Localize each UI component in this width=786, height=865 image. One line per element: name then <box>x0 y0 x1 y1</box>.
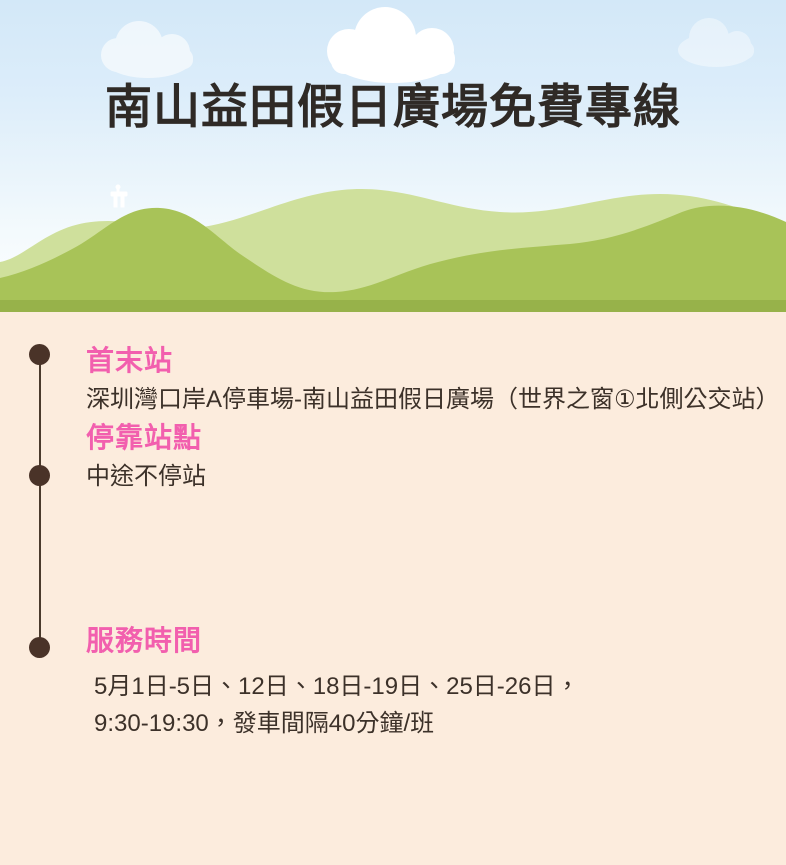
service-hours-line-1: 5月1日-5日、12日、18日-19日、25日-26日， <box>94 668 776 705</box>
cloud-right-icon <box>678 18 754 67</box>
section-title-terminal-stations: 首末站 <box>86 342 776 380</box>
cloud-center-icon <box>327 7 455 83</box>
timeline-rail-group <box>38 354 42 648</box>
page-title: 南山益田假日廣場免費專線 <box>0 78 786 136</box>
section-body-service-hours: 5月1日-5日、12日、18日-19日、25日-26日， 9:30-19:30，… <box>86 668 776 742</box>
timeline-line <box>39 354 41 648</box>
poster-root: 南山益田假日廣場免費專線 首末站 深圳灣口岸A停車場-南山益田假日廣場（世界之窗… <box>0 0 786 865</box>
hero-banner: 南山益田假日廣場免費專線 <box>0 0 786 312</box>
cloud-left-icon <box>101 21 193 78</box>
section-title-service-hours: 服務時間 <box>86 622 776 660</box>
section-service-hours: 服務時間 5月1日-5日、12日、18日-19日、25日-26日， 9:30-1… <box>86 622 776 742</box>
hero-illustration <box>0 0 786 312</box>
section-terminal-stations: 首末站 深圳灣口岸A停車場-南山益田假日廣場（世界之窗①北側公交站） <box>86 342 776 417</box>
section-stops: 停靠站點 中途不停站 <box>86 419 776 494</box>
timeline-node-terminal-stations <box>29 344 50 365</box>
section-title-stops: 停靠站點 <box>86 419 776 457</box>
content-panel: 首末站 深圳灣口岸A停車場-南山益田假日廣場（世界之窗①北側公交站） 停靠站點 … <box>0 312 786 865</box>
info-blocks: 首末站 深圳灣口岸A停車場-南山益田假日廣場（世界之窗①北側公交站） 停靠站點 … <box>86 342 776 744</box>
section-body-stops: 中途不停站 <box>86 459 776 494</box>
timeline-node-service-hours <box>29 637 50 658</box>
service-hours-line-2: 9:30-19:30，發車間隔40分鐘/班 <box>94 705 776 742</box>
section-body-terminal-stations: 深圳灣口岸A停車場-南山益田假日廣場（世界之窗①北側公交站） <box>86 382 776 417</box>
hill-shadow-strip <box>0 300 786 312</box>
windmill-icon <box>111 185 127 207</box>
timeline-node-stops <box>29 465 50 486</box>
